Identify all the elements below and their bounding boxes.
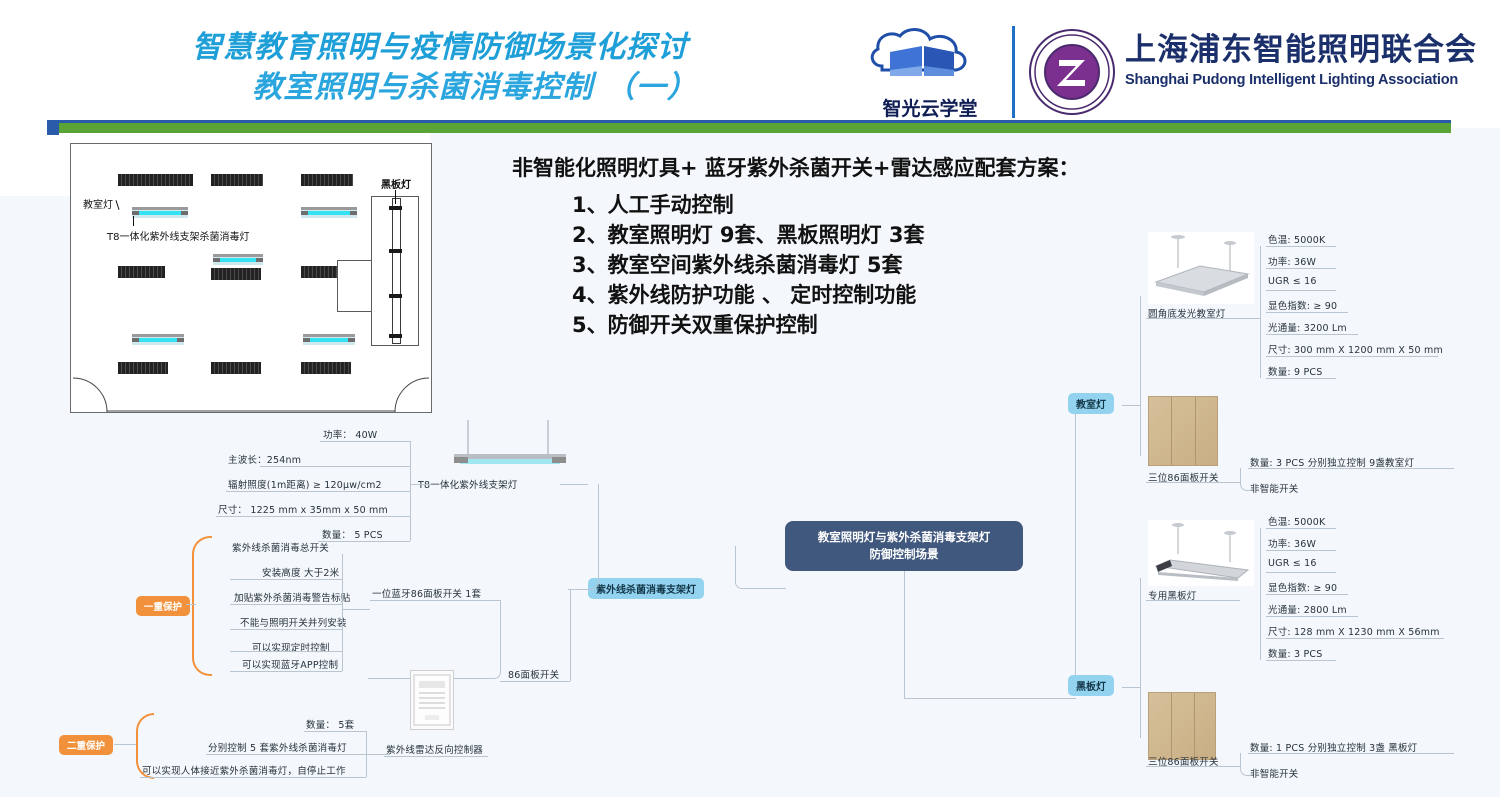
- header-rule-green: [47, 122, 1451, 133]
- slide-canvas: 智慧教育照明与疫情防御场景化探讨 教室照明与杀菌消毒控制 （一） 智光云学堂: [0, 0, 1500, 797]
- uv-spec-2: 主波长：254nm: [228, 452, 301, 466]
- p1-underline: [230, 629, 342, 630]
- classroom-spec-underline: [1266, 246, 1336, 247]
- connector-center-to-right: [904, 698, 1076, 699]
- blackboard-switch-corner: [1240, 753, 1251, 776]
- association-name-en: Shanghai Pudong Intelligent Lighting Ass…: [1125, 70, 1485, 90]
- page-title: 智慧教育照明与疫情防御场景化探讨 教室照明与杀菌消毒控制 （一）: [60, 28, 820, 108]
- center-node-line-1: 教室照明灯与紫外杀菌消毒支架灯: [818, 529, 991, 546]
- classroom-switch-photo: [1148, 396, 1218, 466]
- floorplan-uv-lamp: [303, 334, 355, 345]
- p1-switch-label: 一位蓝牙86面板开关 1套: [372, 586, 481, 600]
- badge-protection-1[interactable]: 一重保护: [136, 596, 190, 616]
- blackboard-spec-6: 尺寸: 128 mm X 1230 mm X 56mm: [1268, 624, 1440, 638]
- classroom-photo-underline: [1146, 318, 1260, 319]
- p1-underline: [230, 671, 342, 672]
- blackboard-spec-3: UGR ≤ 16: [1268, 558, 1317, 569]
- bullet-list: 1、人工手动控制 2、教室照明灯 9套、黑板照明灯 3套 3、教室空间紫外线杀菌…: [572, 190, 924, 340]
- uv-spec-1: 功率： 40W: [323, 427, 377, 441]
- brace-protection-1: [192, 536, 212, 676]
- p2-underline: [304, 731, 366, 732]
- connector-uvfix-to-branch: [560, 484, 588, 485]
- floorplan-classroom-lamp: [211, 268, 261, 280]
- p1-spine-out: [342, 609, 370, 610]
- floorplan-doors-icon: [71, 372, 431, 412]
- classroom-switch-corner: [1240, 468, 1251, 491]
- classroom-qty-underline: [1248, 468, 1454, 469]
- floorplan-label-uv: T8一体化紫外线支架杀菌消毒灯: [107, 228, 249, 243]
- p1-item-5: 可以实现蓝牙APP控制: [242, 657, 338, 671]
- zhiguang-cloud-logo-icon: 智光云学堂: [860, 24, 1000, 122]
- mindmap-center-node[interactable]: 教室照明灯与紫外杀菌消毒支架灯 防御控制场景: [785, 521, 1023, 571]
- classroom-switch-type: 非智能开关: [1250, 481, 1299, 495]
- blackboard-spec-spine: [1260, 528, 1261, 660]
- p2-device-underline: [384, 756, 488, 757]
- branch-node-uv[interactable]: 紫外线杀菌消毒支架灯: [588, 578, 704, 599]
- association-name-cn: 上海浦东智能照明联合会: [1125, 30, 1485, 70]
- floorplan-blackboard-tick: [389, 294, 402, 298]
- floorplan-blackboard-tick: [389, 249, 402, 253]
- blackboard-spec-underline: [1266, 616, 1358, 617]
- p2-underline: [206, 754, 366, 755]
- floorplan-leader-line: [133, 216, 134, 226]
- connector-blackboard-out: [1122, 687, 1140, 688]
- blackboard-spec-underline: [1266, 638, 1444, 639]
- blackboard-switch-photo: [1148, 692, 1216, 760]
- connector-p1-badge: [186, 604, 196, 605]
- floorplan-platform: [337, 260, 374, 312]
- classroom-spec-4: 显色指数: ≥ 90: [1268, 298, 1337, 312]
- header-rule-blue-line: [47, 120, 1451, 123]
- radar-controller-photo: [410, 670, 454, 730]
- blackboard-light-photo: [1148, 520, 1254, 586]
- blackboard-spec-underline: [1266, 594, 1348, 595]
- header-rule-blue-cap: [47, 120, 59, 135]
- connector-center-left: [735, 546, 786, 589]
- bullet-item-2: 2、教室照明灯 9套、黑板照明灯 3套: [572, 220, 924, 250]
- classroom-spec-spine: [1260, 246, 1261, 378]
- logo-left-label: 智光云学堂: [862, 94, 998, 121]
- uv-spec-spine: [410, 441, 411, 541]
- classroom-spec-7: 数量: 9 PCS: [1268, 364, 1322, 378]
- floorplan-label-classroom-light: 教室灯: [83, 196, 113, 211]
- uv-spec-underline: [226, 491, 410, 492]
- badge-protection-2[interactable]: 二重保护: [59, 735, 113, 755]
- floorplan-blackboard-lamp: [392, 198, 401, 344]
- classroom-spec-underline: [1266, 334, 1358, 335]
- uv-spec-underline: [318, 541, 410, 542]
- p1-item-1: 安装高度 大于2米: [262, 565, 339, 579]
- classroom-switch-underline: [1146, 482, 1240, 483]
- floorplan-classroom-lamp: [211, 174, 263, 186]
- logo-area: 智光云学堂 上海浦东智能照明联合会 Shanghai Pudong Intell…: [860, 22, 1490, 122]
- p2-item-2: 可以实现人体接近紫外杀菌消毒灯，自停止工作: [142, 763, 346, 777]
- p1-underline: [230, 604, 342, 605]
- blackboard-switch-type: 非智能开关: [1250, 766, 1299, 780]
- floorplan-classroom-lamp: [118, 174, 193, 186]
- blackboard-spec-1: 色温: 5000K: [1268, 514, 1325, 528]
- branch-node-classroom-light[interactable]: 教室灯: [1068, 393, 1114, 414]
- classroom-spine: [1140, 296, 1141, 456]
- floorplan-leader-line: [395, 190, 396, 204]
- blackboard-spec-7: 数量: 3 PCS: [1268, 646, 1322, 660]
- connector-center-down: [904, 571, 905, 699]
- uv-spec-underline: [320, 441, 410, 442]
- uv-fixture-photo: [452, 420, 568, 477]
- p1-item-2: 加贴紫外杀菌消毒警告标贴: [234, 590, 350, 604]
- center-node-line-2: 防御控制场景: [818, 546, 991, 563]
- blackboard-spec-underline: [1266, 528, 1336, 529]
- floorplan-blackboard-tick: [389, 206, 402, 210]
- blackboard-spec-4: 显色指数: ≥ 90: [1268, 580, 1337, 594]
- floorplan-blackboard-tick: [389, 334, 402, 338]
- p1-switch-corner: [368, 600, 501, 679]
- blackboard-spec-underline: [1266, 660, 1336, 661]
- blackboard-spec-5: 光通量: 2800 Lm: [1268, 602, 1347, 616]
- classroom-spec-3: UGR ≤ 16: [1268, 276, 1317, 287]
- bullet-item-5: 5、防御开关双重保护控制: [572, 310, 924, 340]
- classroom-light-photo: [1148, 232, 1254, 304]
- classroom-spec-1: 色温: 5000K: [1268, 232, 1325, 246]
- connector-p2-badge: [114, 744, 136, 745]
- uv-spec-spine-out: [410, 484, 430, 485]
- p1-item-3: 不能与照明开关并列安装: [240, 615, 347, 629]
- blackboard-spine: [1140, 578, 1141, 738]
- classroom-floorplan: 教室灯 T8一体化紫外线支架杀菌消毒灯 黑板灯: [70, 143, 432, 413]
- p2-qty: 数量： 5套: [306, 717, 354, 731]
- floorplan-label-blackboard: 黑板灯: [381, 176, 411, 191]
- p1-group-spine: [570, 589, 571, 681]
- bullet-item-3: 3、教室空间紫外线杀菌消毒灯 5套: [572, 250, 924, 280]
- branch-node-blackboard-light[interactable]: 黑板灯: [1068, 675, 1114, 696]
- logo-divider: [1012, 26, 1015, 118]
- classroom-switch-qty: 数量: 3 PCS 分别独立控制 9盏教室灯: [1250, 455, 1414, 469]
- floorplan-uv-lamp: [132, 207, 188, 218]
- blackboard-switch-qty: 数量: 1 PCS 分别独立控制 3盏 黑板灯: [1250, 740, 1417, 754]
- uv-fixture-name: T8一体化紫外线支架灯: [418, 477, 518, 491]
- association-name: 上海浦东智能照明联合会 Shanghai Pudong Intelligent …: [1125, 30, 1485, 90]
- floorplan-leader-line: [115, 200, 119, 210]
- p2-item-1: 分别控制 5 套紫外线杀菌消毒灯: [208, 740, 347, 754]
- uv-spec-underline: [216, 516, 410, 517]
- uv-spec-underline: [260, 466, 410, 467]
- bullet-item-1: 1、人工手动控制: [572, 190, 924, 220]
- floorplan-classroom-lamp: [301, 174, 353, 186]
- floorplan-uv-lamp: [301, 207, 357, 218]
- p1-underline: [230, 579, 342, 580]
- classroom-spec-6: 尺寸: 300 mm X 1200 mm X 50 mm: [1268, 342, 1443, 356]
- blackboard-spec-underline: [1266, 550, 1336, 551]
- blackboard-photo-underline: [1146, 600, 1240, 601]
- classroom-spec-underline: [1266, 290, 1336, 291]
- uv-spec-4: 尺寸： 1225 mm x 35mm x 50 mm: [218, 502, 388, 516]
- p1-title: 紫外线杀菌消毒总开关: [232, 540, 329, 554]
- floorplan-classroom-lamp: [118, 266, 165, 278]
- p1-spine: [342, 554, 343, 671]
- connector-uvfix-corner: [588, 484, 599, 590]
- classroom-spec-underline: [1266, 312, 1348, 313]
- blackboard-spec-2: 功率: 36W: [1268, 536, 1316, 550]
- p2-device-label: 紫外线雷达反向控制器: [386, 742, 483, 756]
- classroom-spec-2: 功率: 36W: [1268, 254, 1316, 268]
- connector-classroom-out: [1122, 405, 1140, 406]
- title-line-1: 智慧教育照明与疫情防御场景化探讨: [60, 28, 820, 68]
- association-seal-icon: [1028, 28, 1116, 116]
- blackboard-switch-underline: [1146, 766, 1240, 767]
- headline-text: 非智能化照明灯具+ 蓝牙紫外杀菌开关+雷达感应配套方案：: [512, 152, 1080, 182]
- blackboard-qty-underline: [1248, 753, 1454, 754]
- floorplan-uv-lamp: [132, 334, 184, 345]
- p1-underline: [230, 651, 342, 652]
- classroom-spec-5: 光通量: 3200 Lm: [1268, 320, 1347, 334]
- classroom-spec-underline: [1266, 356, 1438, 357]
- bullet-item-4: 4、紫外线防护功能 、 定时控制功能: [572, 280, 924, 310]
- title-line-2: 教室照明与杀菌消毒控制 （一）: [60, 68, 820, 108]
- connector-right-spine: [1075, 405, 1076, 695]
- classroom-spec-underline: [1266, 268, 1336, 269]
- uv-spec-3: 辐射照度(1m距离) ≥ 120μw/cm2: [228, 477, 382, 491]
- classroom-spec-underline: [1266, 378, 1336, 379]
- p2-underline: [140, 777, 366, 778]
- blackboard-spec-underline: [1266, 572, 1336, 573]
- uv-spec-5: 数量： 5 PCS: [322, 527, 383, 541]
- floorplan-uv-lamp: [213, 254, 263, 265]
